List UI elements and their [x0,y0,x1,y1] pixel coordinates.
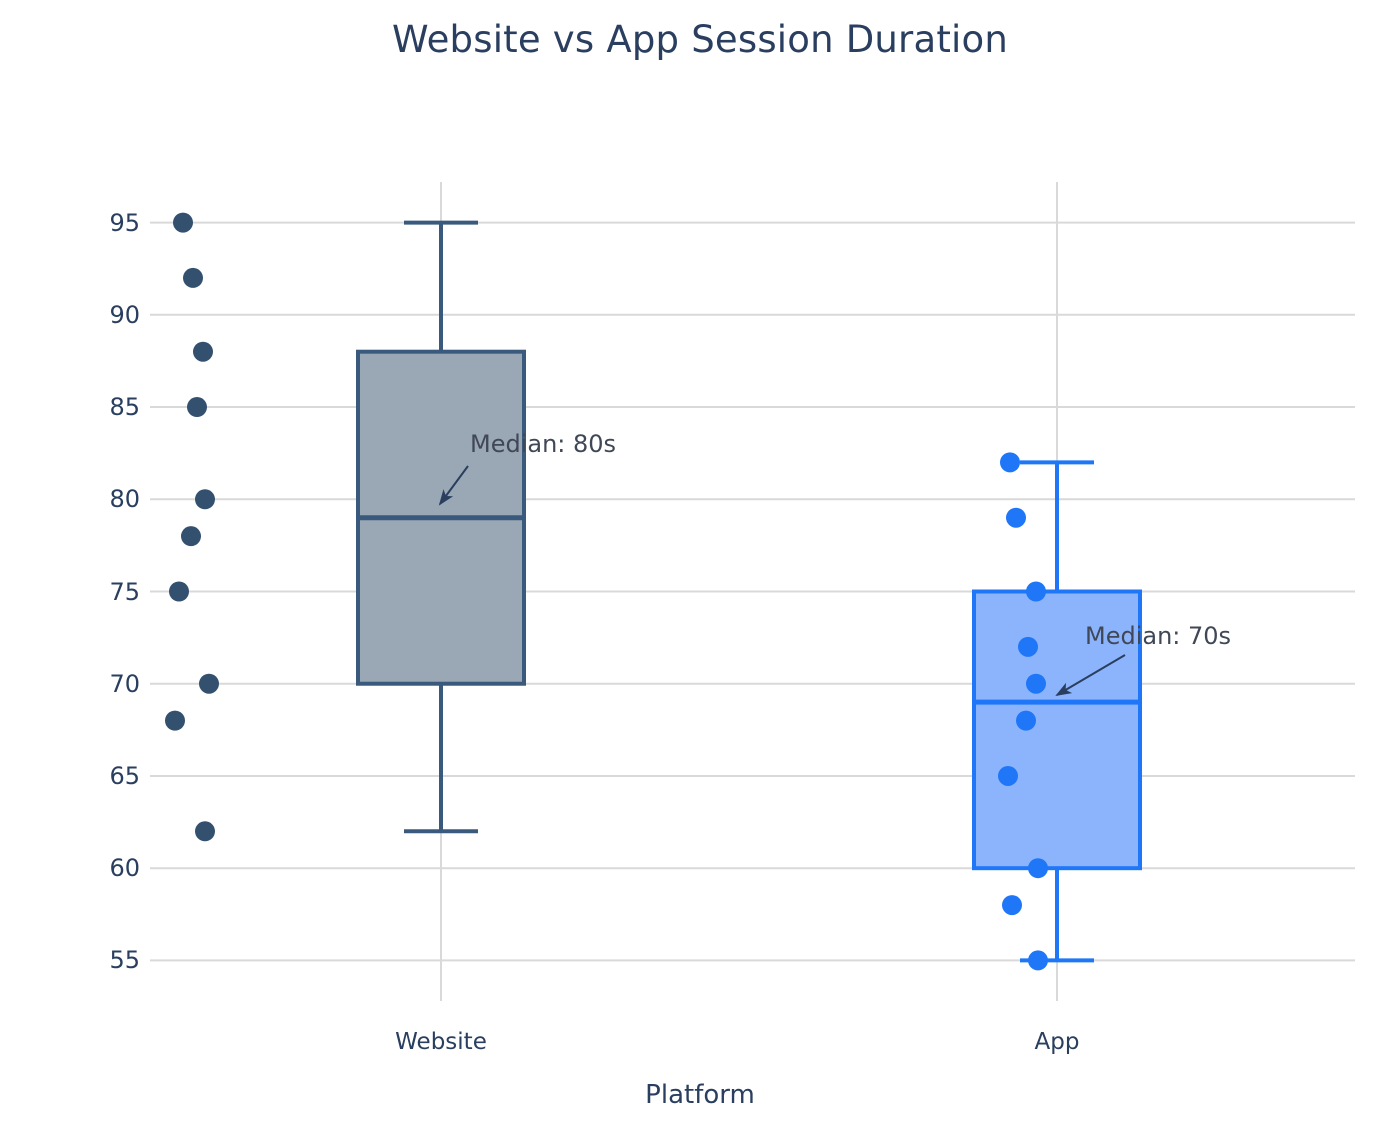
scatter-point [169,582,189,602]
box-plot-app [974,462,1140,960]
plot-area: Median: 80sMedian: 70s [0,0,1400,1121]
horizontal-gridlines [150,223,1355,961]
scatter-point [1000,452,1020,472]
scatter-point [1018,637,1038,657]
x-tick-label: App [907,1029,1207,1055]
scatter-point [1028,950,1048,970]
x-axis-title: Platform [0,1080,1400,1110]
x-tick-label: Website [291,1029,591,1055]
annotation-label: Median: 80s [470,430,616,458]
scatter-point [1026,582,1046,602]
chart-container: Website vs App Session Duration Duration… [0,0,1400,1121]
scatter-point [1016,711,1036,731]
scatter-point [193,342,213,362]
scatter-point [181,526,201,546]
scatter-point [173,213,193,233]
annotation-label: Median: 70s [1085,622,1231,650]
scatter-point [1026,674,1046,694]
scatter-point [1002,895,1022,915]
scatter-point [998,766,1018,786]
scatter-point [183,268,203,288]
scatter-point [165,711,185,731]
scatter-point [195,489,215,509]
scatter-point [195,821,215,841]
scatter-point [1006,508,1026,528]
scatter-point [199,674,219,694]
scatter-point [1028,858,1048,878]
scatter-point [187,397,207,417]
